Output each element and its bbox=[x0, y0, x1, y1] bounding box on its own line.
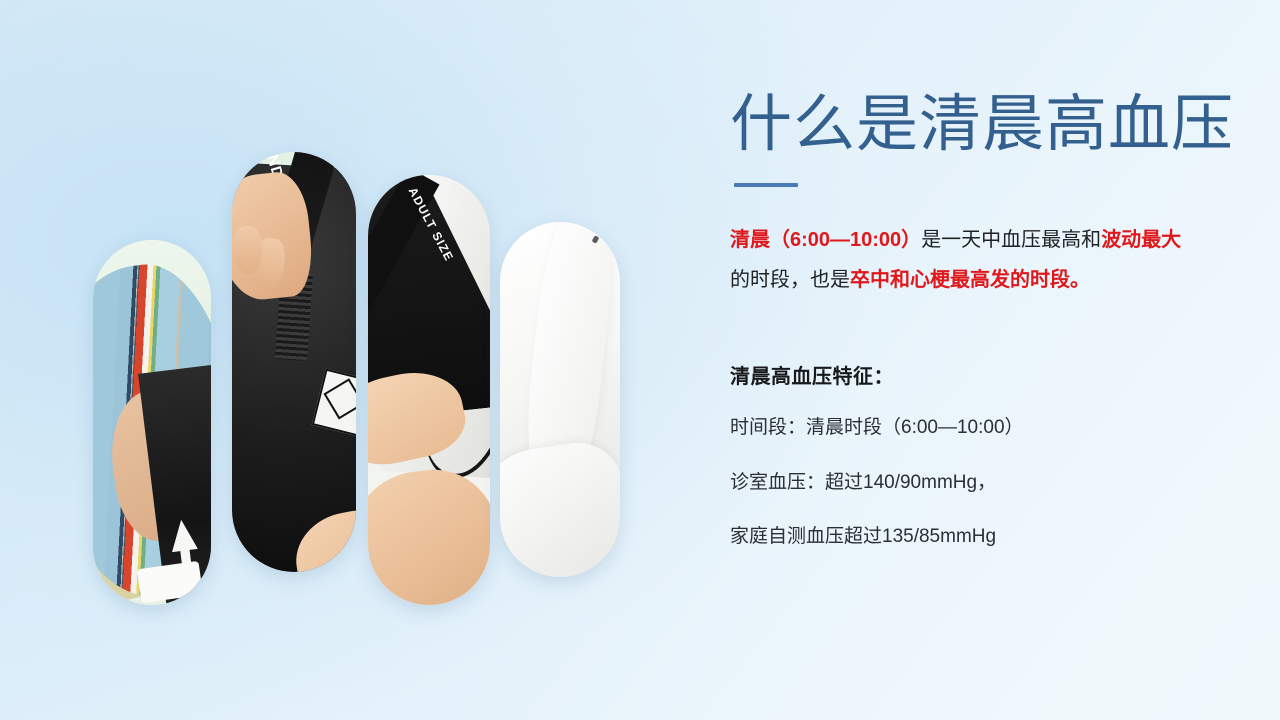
lead-accent-fluctuation-1: 波动 bbox=[1101, 229, 1141, 251]
page-title: 什么是清晨高血压 bbox=[730, 92, 1230, 157]
features-heading: 清晨高血压特征： bbox=[730, 360, 1230, 389]
collage-panel-cuff-adult-size-on-arm: ADULT SIZE bbox=[368, 175, 490, 605]
panel-3-image: ADULT SIZE bbox=[368, 175, 490, 605]
image-collage: INDEX ADULT SIZE bbox=[86, 130, 646, 630]
feature-row-clinic-bp: 诊室血压：超过140/90mmHg， bbox=[730, 470, 1230, 496]
panel-4-sleeve-cuff bbox=[500, 437, 620, 577]
collage-panel-hand-holding-cuff: INDEX bbox=[232, 152, 356, 572]
collage-panel-striped-sleeve-cuff-arrow bbox=[93, 240, 211, 605]
lead-paragraph: 清晨（6:00—10:00）是一天中血压最高和波动最大的时段，也是卒中和心梗最高… bbox=[730, 220, 1190, 300]
panel-2-image: INDEX bbox=[232, 152, 356, 572]
lead-accent-stroke-risk: 卒中和心梗最高发的时段。 bbox=[850, 269, 1090, 291]
lead-body-2: 的时段，也是 bbox=[730, 269, 850, 291]
feature-row-time-window: 时间段：清晨时段（6:00—10:00） bbox=[730, 415, 1230, 441]
features-list: 时间段：清晨时段（6:00—10:00） 诊室血压：超过140/90mmHg， … bbox=[730, 415, 1230, 550]
slide-root: INDEX ADULT SIZE bbox=[0, 0, 1280, 720]
title-underline-rule bbox=[734, 183, 798, 187]
collage-panel-white-coat-sleeve bbox=[500, 222, 620, 577]
lead-accent-fluctuation-2: 最大 bbox=[1141, 229, 1181, 251]
lead-accent-morning-window: 清晨（6:00—10:00） bbox=[730, 229, 921, 251]
lead-body-1: 是一天中血压最高和 bbox=[921, 229, 1101, 251]
panel-4-image bbox=[500, 222, 620, 577]
content-column: 什么是清晨高血压 清晨（6:00—10:00）是一天中血压最高和波动最大的时段，… bbox=[730, 92, 1230, 550]
feature-row-home-bp: 家庭自测血压超过135/85mmHg bbox=[730, 524, 1230, 550]
panel-1-image bbox=[93, 240, 211, 605]
panel-3-arm bbox=[368, 464, 490, 605]
